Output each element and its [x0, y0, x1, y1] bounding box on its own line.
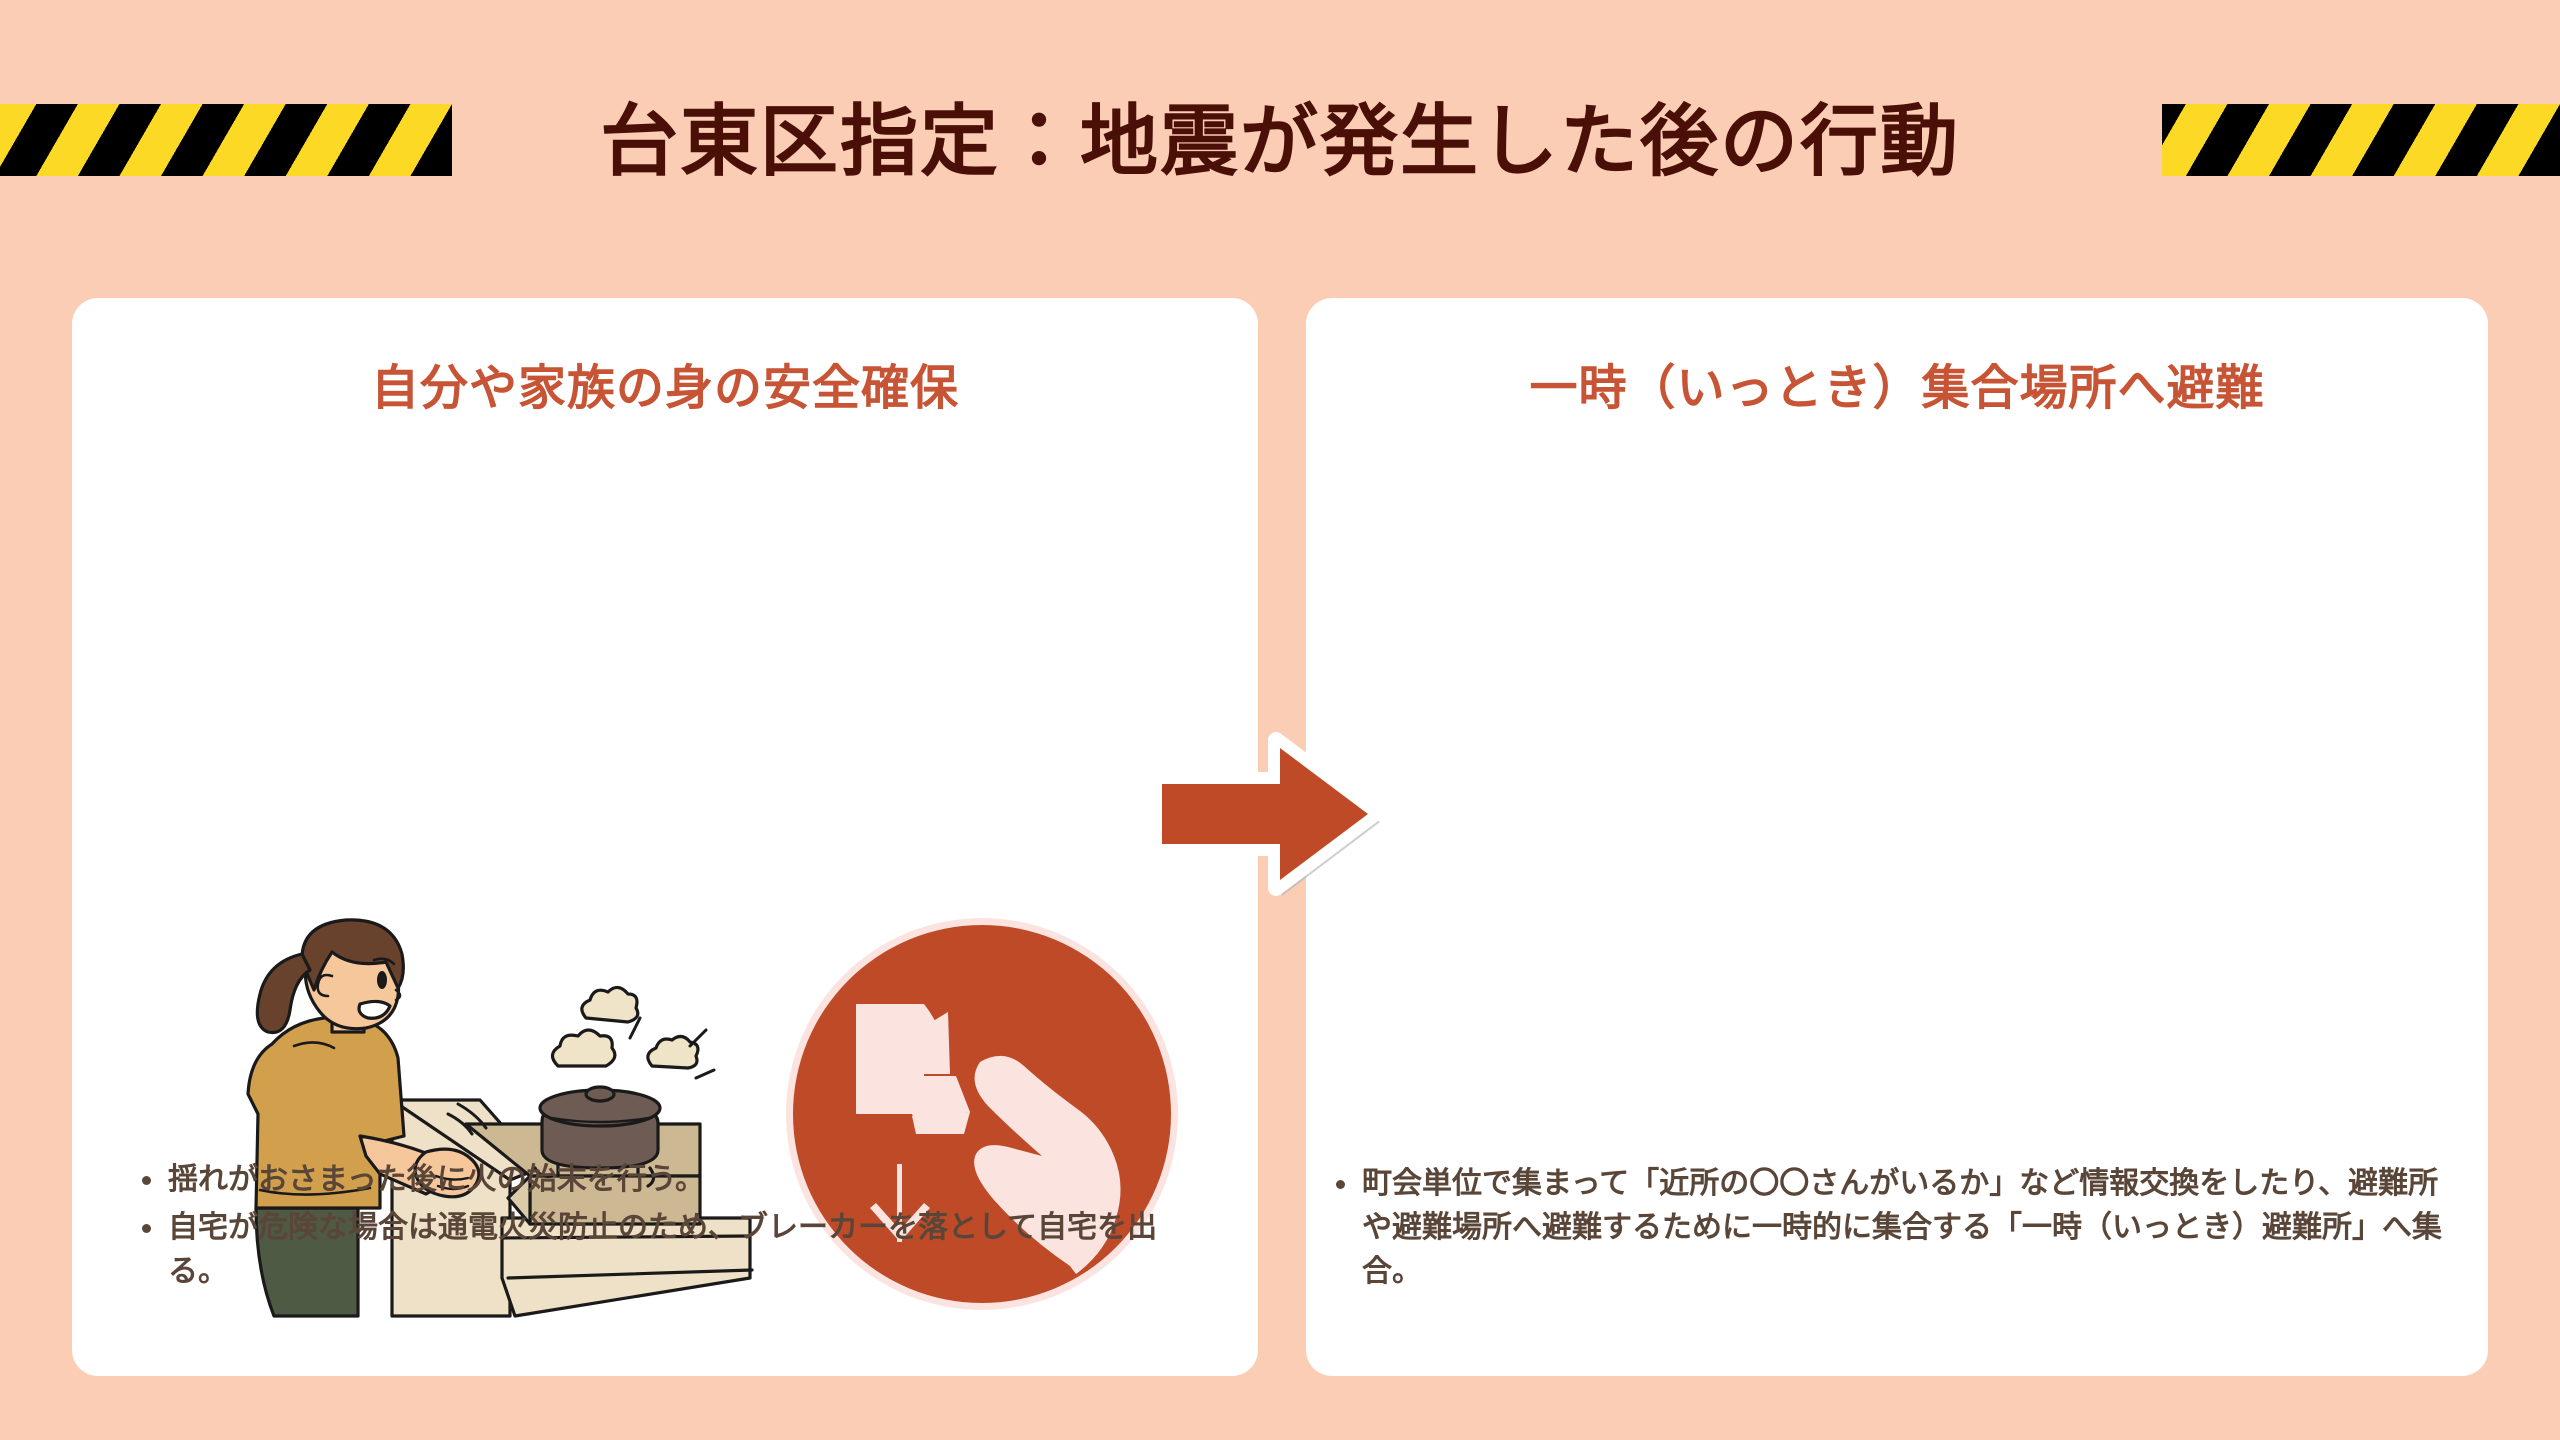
- bullet-item: 自宅が危険な場合は通電火災防止のため、ブレーカーを落として自宅を出る。: [134, 1206, 1194, 1294]
- page-header: 台東区指定：地震が発生した後の行動: [0, 0, 2560, 298]
- card-temporary-assembly: 一時（いっとき）集合場所へ避難: [1306, 298, 2488, 1376]
- bullet-item: 揺れがおさまった後に火の始末を行う。: [134, 1158, 1194, 1202]
- bullet-item: 町会単位で集まって「近所の〇〇さんがいるか」など情報交換をしたり、避難所や避難場…: [1328, 1162, 2468, 1294]
- card-title-assembly: 一時（いっとき）集合場所へ避難: [1306, 348, 2488, 418]
- hazard-stripe-right-icon: [2162, 104, 2560, 176]
- bullet-list-safety: 揺れがおさまった後に火の始末を行う。 自宅が危険な場合は通電火災防止のため、ブレ…: [134, 1158, 1194, 1298]
- right-arrow-icon: [1148, 718, 1418, 898]
- bullet-list-assembly: 町会単位で集まって「近所の〇〇さんがいるか」など情報交換をしたり、避難所や避難場…: [1328, 1162, 2468, 1298]
- card-safety-first: 自分や家族の身の安全確保: [72, 298, 1258, 1376]
- card-title-safety: 自分や家族の身の安全確保: [72, 348, 1258, 418]
